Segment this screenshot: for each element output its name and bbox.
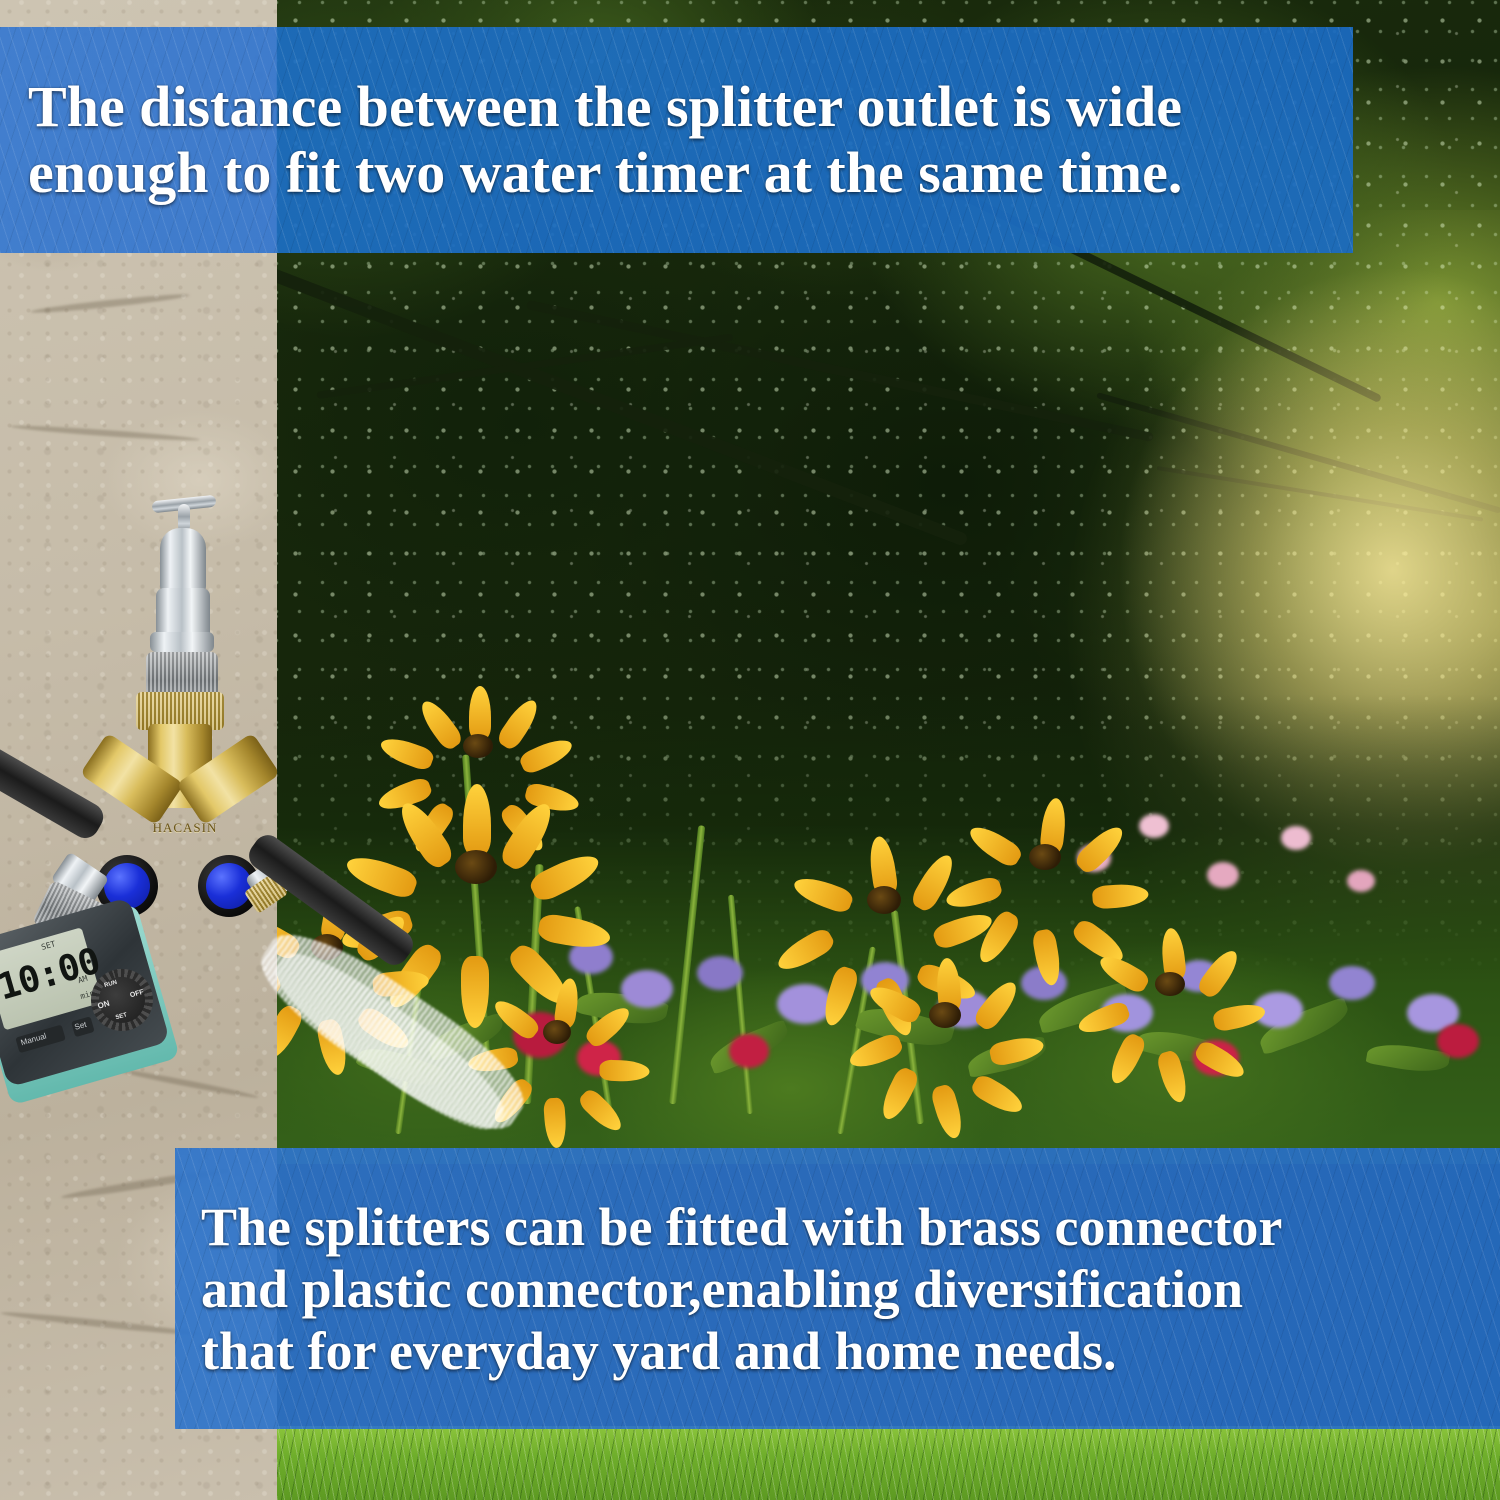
flower: [1107, 930, 1247, 1044]
bottom-headline-banner: The splitters can be fitted with brass c…: [175, 1148, 1500, 1429]
right-valve-handle[interactable]: [206, 863, 252, 909]
bottom-headline-line-1: The splitters can be fitted with brass c…: [201, 1196, 1474, 1258]
top-headline-line-1: The distance between the splitter outlet…: [28, 74, 1325, 140]
brand-marking: HACASIN: [140, 820, 230, 836]
bottom-headline-line-3: that for everyday yard and home needs.: [201, 1320, 1474, 1382]
flower: [377, 790, 577, 950]
flower: [977, 800, 1127, 920]
flower: [807, 840, 967, 970]
top-headline-line-2: enough to fit two water timer at the sam…: [28, 140, 1325, 206]
lawn-grass: [277, 1426, 1500, 1500]
product-feature-image: HACASIN 10:00 SET AM min ON OFF: [0, 0, 1500, 1500]
bottom-headline-line-2: and plastic connector,enabling diversifi…: [201, 1258, 1474, 1320]
faucet-body: [160, 528, 206, 596]
flower: [497, 980, 633, 1090]
top-headline-banner: The distance between the splitter outlet…: [0, 27, 1353, 253]
flower: [877, 960, 1027, 1080]
faucet-collar: [150, 632, 214, 652]
